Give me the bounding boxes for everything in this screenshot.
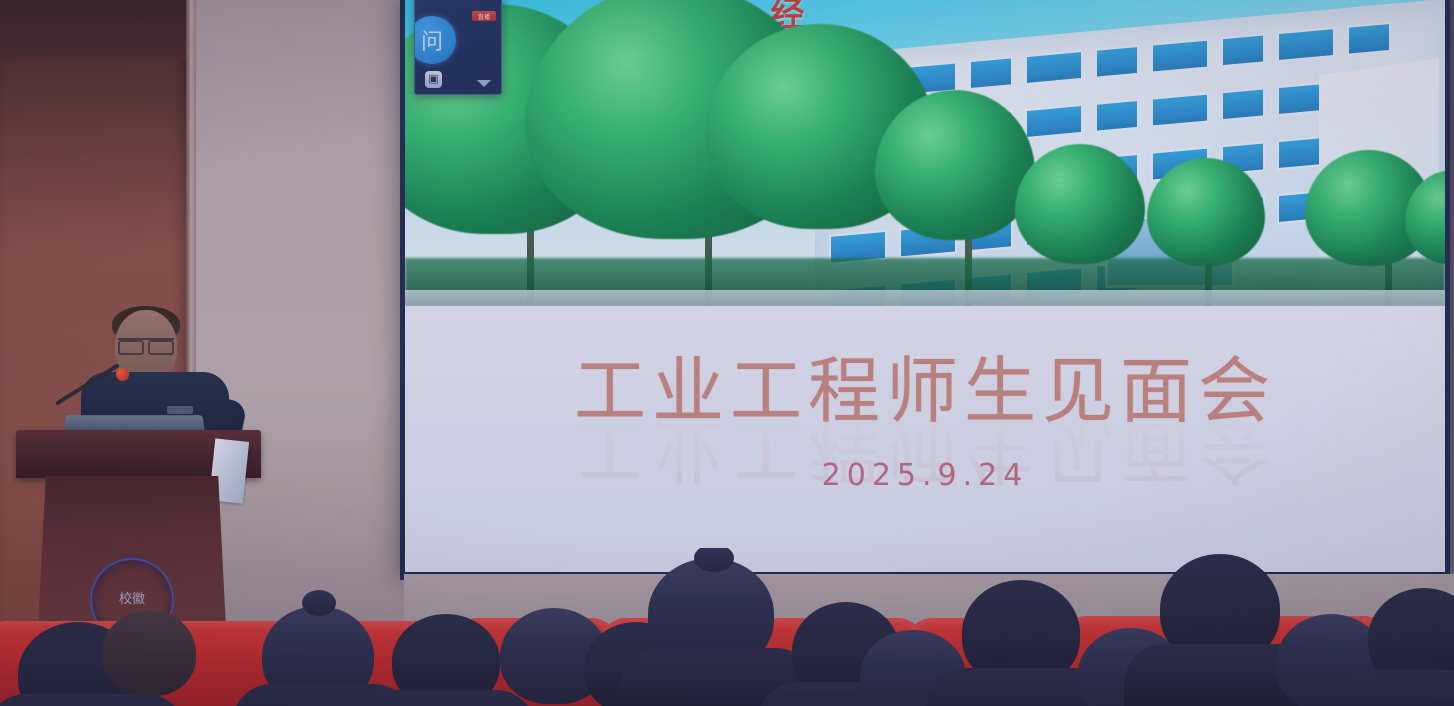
glasses-icon (118, 338, 174, 352)
scan-icon[interactable]: ▣ (425, 71, 442, 88)
lecture-hall-scene: 经管楼 工业工程师生见面会 (0, 0, 1454, 706)
microphone-icon (116, 368, 129, 381)
slide-title-area: 工业工程师生见面会 工业工程师生见面会 2025.9.24 (405, 306, 1445, 572)
chevron-down-icon[interactable] (477, 80, 491, 87)
tree (1015, 144, 1145, 264)
audience-seating (0, 548, 1454, 706)
audience-shoulders (356, 690, 536, 706)
slide-date: 2025.9.24 (405, 458, 1445, 493)
ceiling-shadow (0, 0, 190, 60)
shirt-logo (167, 406, 193, 414)
projection-screen-frame: 经管楼 工业工程师生见面会 (400, 0, 1450, 580)
live-badge: 直播 (472, 11, 496, 21)
hair-bun (302, 590, 336, 616)
floating-app-panel[interactable]: 直播 问 ▣ (414, 0, 502, 95)
audience-head (102, 610, 196, 696)
projection-screen: 经管楼 工业工程师生见面会 (405, 0, 1445, 572)
audience-shoulders (1334, 670, 1454, 706)
slide-title-reflection: 工业工程师生见面会 (405, 404, 1445, 509)
slide-photo: 经管楼 (405, 0, 1445, 306)
avatar[interactable]: 问 (414, 16, 456, 64)
tree (1147, 158, 1265, 266)
ground (405, 290, 1445, 306)
